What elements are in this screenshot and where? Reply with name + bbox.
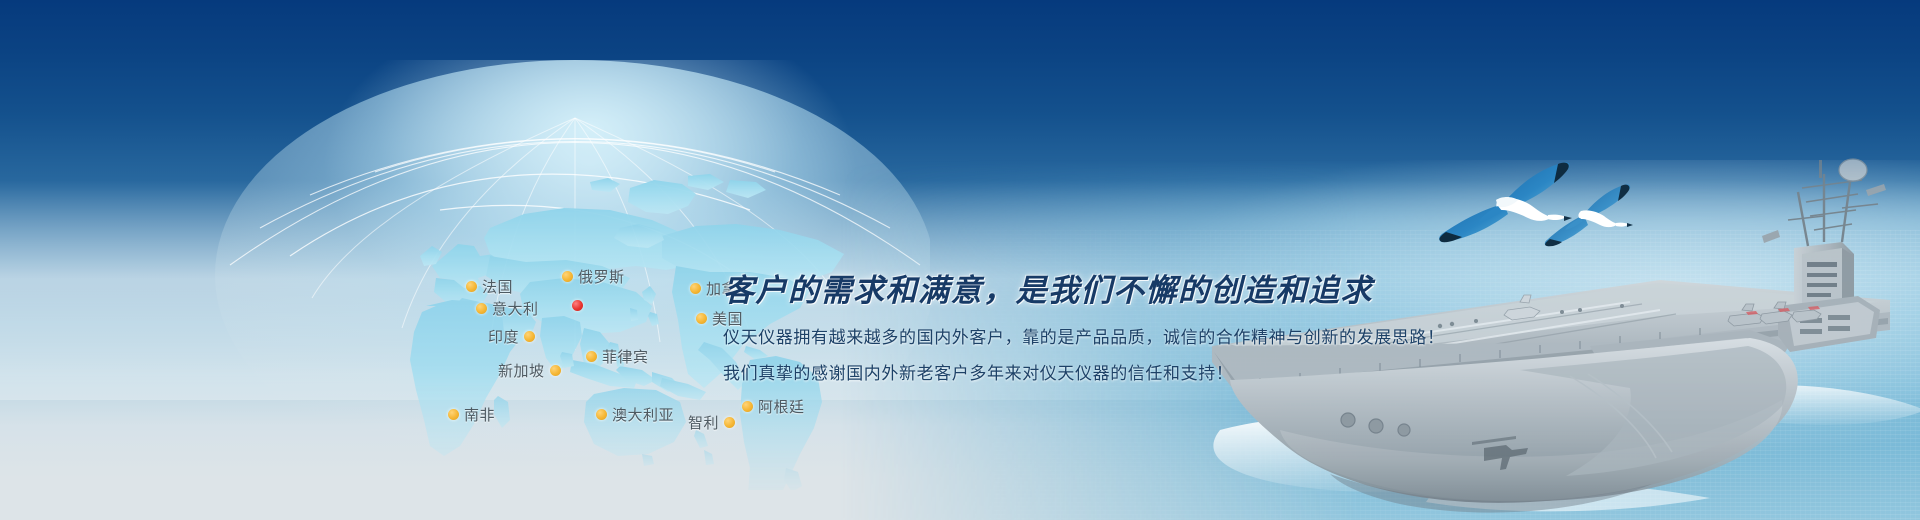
marker-dot-icon — [690, 283, 701, 294]
page-title: 客户的需求和满意，是我们不懈的创造和追求 — [723, 272, 1543, 309]
marker-dot-home-icon — [572, 300, 583, 311]
marker-dot-icon — [742, 401, 753, 412]
marker-dot-icon — [696, 313, 707, 324]
map-marker-argentina: 阿根廷 — [742, 396, 805, 417]
map-marker-chile: 智利 — [688, 412, 735, 433]
map-label: 南非 — [464, 404, 495, 425]
marker-dot-icon — [550, 365, 561, 376]
map-label: 阿根廷 — [758, 396, 805, 417]
map-marker-philippines: 菲律宾 — [586, 346, 649, 367]
map-marker-russia: 俄罗斯 — [562, 266, 625, 287]
map-marker-india: 印度 — [488, 326, 535, 347]
banner-subline-1: 仪天仪器拥有越来越多的国内外客户，靠的是产品品质，诚信的合作精神与创新的发展思路… — [723, 322, 1543, 353]
map-label: 印度 — [488, 326, 519, 347]
map-marker-china-home — [572, 300, 583, 311]
map-marker-south-africa: 南非 — [448, 404, 495, 425]
marker-dot-icon — [476, 303, 487, 314]
marker-dot-icon — [466, 281, 477, 292]
map-marker-france: 法国 — [466, 276, 513, 297]
marker-dot-icon — [562, 271, 573, 282]
hero-banner: 法国 意大利 俄罗斯 印度 加拿大 美国 菲律宾 — [0, 0, 1920, 520]
marker-dot-icon — [448, 409, 459, 420]
marker-dot-icon — [724, 417, 735, 428]
map-label: 新加坡 — [498, 360, 545, 381]
marker-dot-icon — [524, 331, 535, 342]
map-label: 澳大利亚 — [612, 404, 674, 425]
banner-subline-2: 我们真挚的感谢国内外新老客户多年来对仪天仪器的信任和支持！ — [723, 358, 1543, 389]
banner-copy: 客户的需求和满意，是我们不懈的创造和追求 仪天仪器拥有越来越多的国内外客户，靠的… — [723, 272, 1543, 389]
map-marker-singapore: 新加坡 — [498, 360, 561, 381]
map-label: 意大利 — [492, 298, 539, 319]
map-marker-australia: 澳大利亚 — [596, 404, 674, 425]
marker-dot-icon — [586, 351, 597, 362]
map-label: 菲律宾 — [602, 346, 649, 367]
marker-dot-icon — [596, 409, 607, 420]
map-label: 智利 — [688, 412, 719, 433]
map-marker-italy: 意大利 — [476, 298, 539, 319]
map-label: 法国 — [482, 276, 513, 297]
map-label: 俄罗斯 — [578, 266, 625, 287]
